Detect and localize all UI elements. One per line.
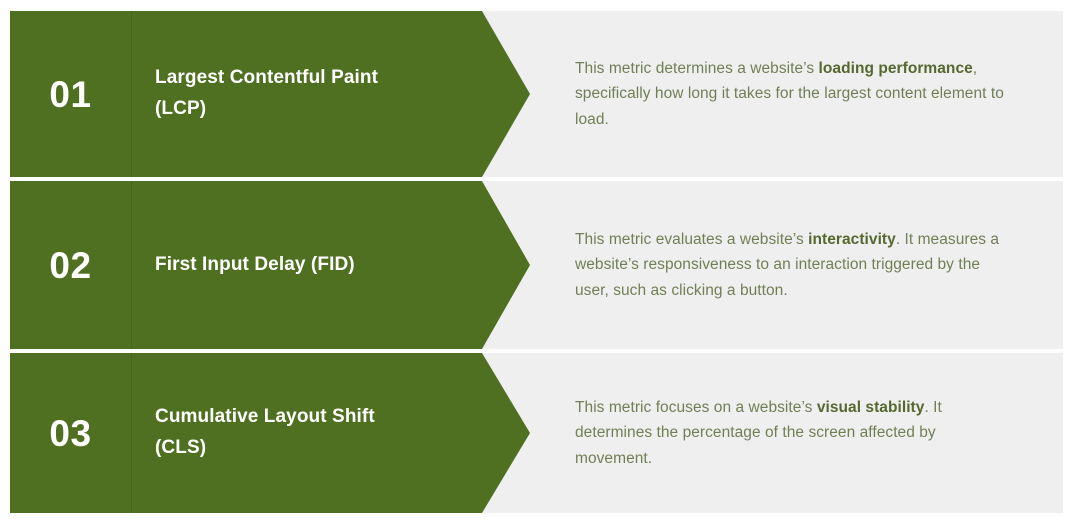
metric-description: This metric focuses on a website’s visua… xyxy=(575,353,1005,513)
number-column-divider xyxy=(131,353,132,513)
metric-title-line2: (CLS) xyxy=(155,437,206,458)
metric-description: This metric evaluates a website’s intera… xyxy=(575,181,1005,349)
number-column-divider xyxy=(131,181,132,349)
metric-row: 01 Largest Contentful Paint (LCP) This m… xyxy=(10,11,1063,177)
description-bold-1: interactivity xyxy=(808,231,896,248)
description-bold-1: loading performance xyxy=(819,60,973,77)
description-part-1: This metric evaluates a website’s xyxy=(575,231,808,248)
description-part-1: This metric focuses on a website’s xyxy=(575,399,817,416)
metric-title-line1: First Input Delay (FID) xyxy=(155,254,355,275)
metric-row: 02 First Input Delay (FID) This metric e… xyxy=(10,181,1063,349)
metric-description: This metric determines a website’s loadi… xyxy=(575,11,1005,177)
metric-title-line1: Largest Contentful Paint xyxy=(155,67,378,88)
metric-title: Cumulative Layout Shift (CLS) xyxy=(155,353,455,513)
metric-number: 03 xyxy=(10,353,131,513)
metric-title-line2: (LCP) xyxy=(155,98,206,119)
metric-row: 03 Cumulative Layout Shift (CLS) This me… xyxy=(10,353,1063,513)
metric-title: First Input Delay (FID) xyxy=(155,181,455,349)
metric-title-line1: Cumulative Layout Shift xyxy=(155,406,375,427)
description-part-1: This metric determines a website’s xyxy=(575,60,819,77)
metric-number: 01 xyxy=(10,11,131,177)
number-column-divider xyxy=(131,11,132,177)
metric-number: 02 xyxy=(10,181,131,349)
core-web-vitals-infographic: 01 Largest Contentful Paint (LCP) This m… xyxy=(0,0,1076,521)
metric-title: Largest Contentful Paint (LCP) xyxy=(155,11,455,177)
description-bold-1: visual stability xyxy=(817,399,925,416)
